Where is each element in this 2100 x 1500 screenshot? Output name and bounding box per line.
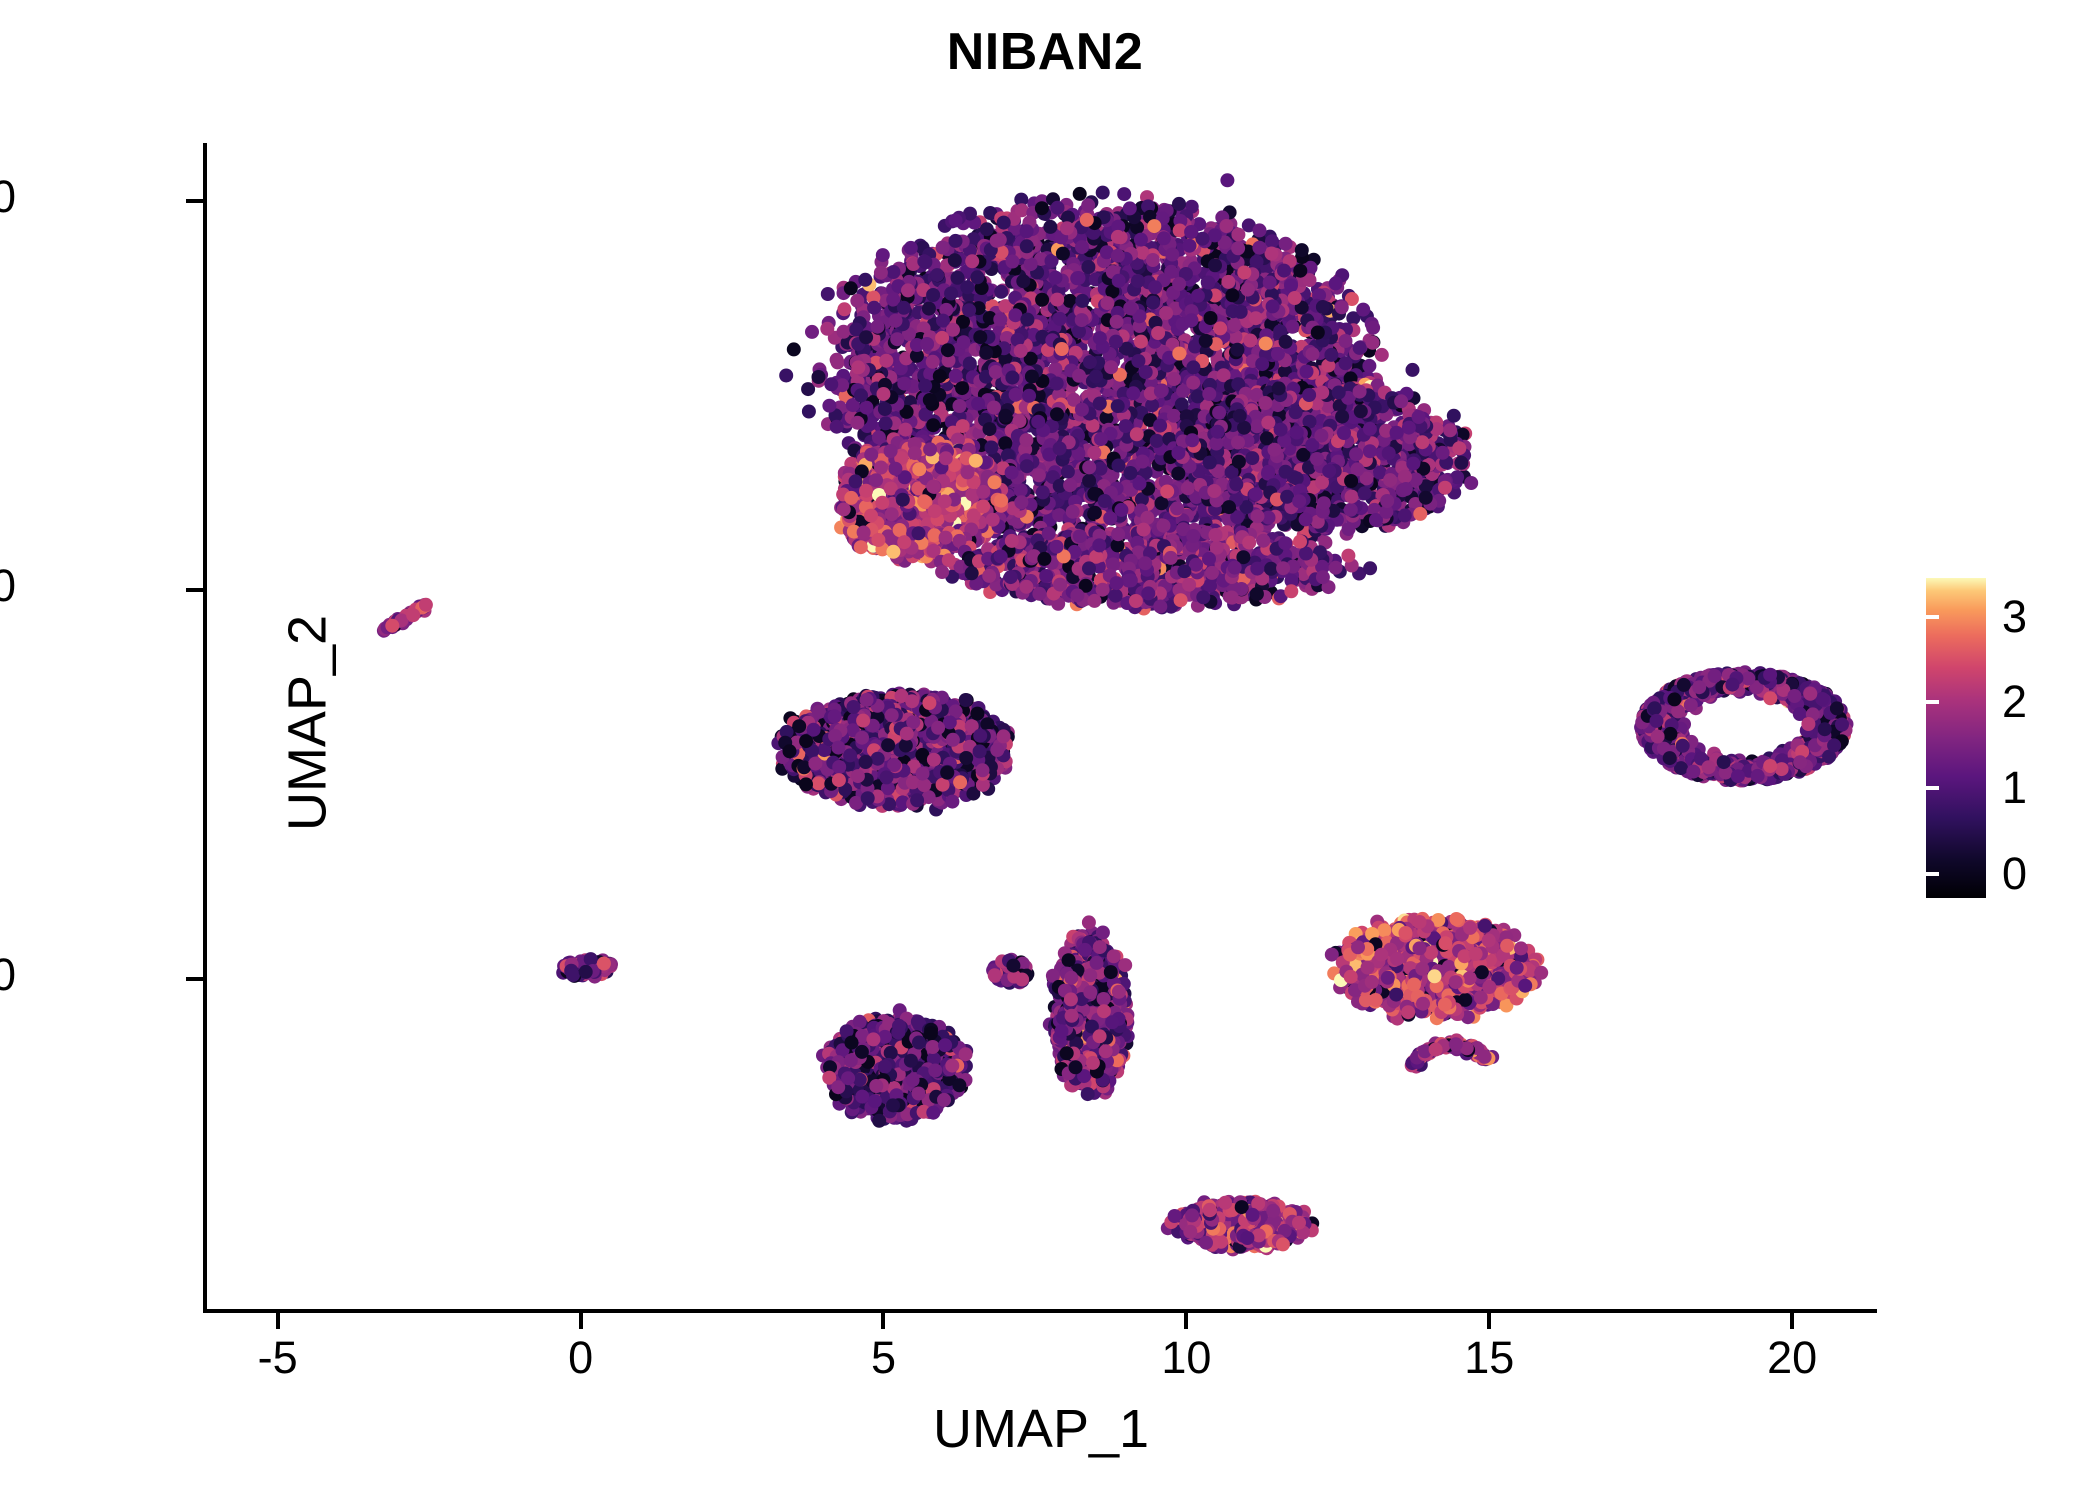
x-tick-label: 15: [1464, 1332, 1514, 1384]
y-tick-mark: [186, 588, 203, 592]
y-tick-mark: [186, 199, 203, 203]
y-tick-mark: [186, 977, 203, 981]
page-title: NIBAN2: [205, 22, 1885, 82]
x-tick-label: -5: [258, 1332, 298, 1384]
y-tick-label: 0: [0, 949, 16, 1001]
x-tick-mark: [1487, 1312, 1491, 1329]
colorbar-tick-label: 1: [2002, 762, 2027, 814]
plot-panel[interactable]: [205, 143, 1877, 1310]
colorbar-tick-mark: [1913, 615, 1926, 619]
x-tick-label: 5: [871, 1332, 896, 1384]
colorbar-tick-label: 3: [2002, 591, 2027, 643]
x-tick-label: 20: [1767, 1332, 1817, 1384]
x-tick-label: 10: [1161, 1332, 1211, 1384]
y-axis-line: [203, 143, 207, 1313]
x-tick-mark: [1184, 1312, 1188, 1329]
x-tick-mark: [276, 1312, 280, 1329]
colorbar-tick-label: 0: [2002, 848, 2027, 900]
x-axis-line: [203, 1309, 1877, 1313]
scatter-points-layer: [205, 143, 1877, 1310]
colorbar-tick-mark: [1926, 700, 1939, 704]
x-axis-title: UMAP_1: [205, 1398, 1877, 1460]
colorbar-tick-mark: [1926, 872, 1939, 876]
colorbar-tick-mark: [1913, 700, 1926, 704]
colorbar-tick-label: 2: [2002, 676, 2027, 728]
y-tick-label: 20: [0, 171, 16, 223]
colorbar-gradient: [1926, 578, 1986, 898]
colorbar-tick-mark: [1913, 786, 1926, 790]
x-tick-label: 0: [568, 1332, 593, 1384]
colorbar-tick-mark: [1926, 615, 1939, 619]
x-tick-mark: [579, 1312, 583, 1329]
colorbar-tick-mark: [1926, 786, 1939, 790]
y-axis-title: UMAP_2: [277, 140, 339, 1307]
scatter-svg: [205, 143, 1877, 1310]
umap-feature-plot: NIBAN2 -505101520 01020 UMAP_1 UMAP_2 01…: [0, 0, 2100, 1500]
y-tick-label: 10: [0, 560, 16, 612]
colorbar-tick-mark: [1913, 872, 1926, 876]
x-tick-mark: [881, 1312, 885, 1329]
x-tick-mark: [1790, 1312, 1794, 1329]
